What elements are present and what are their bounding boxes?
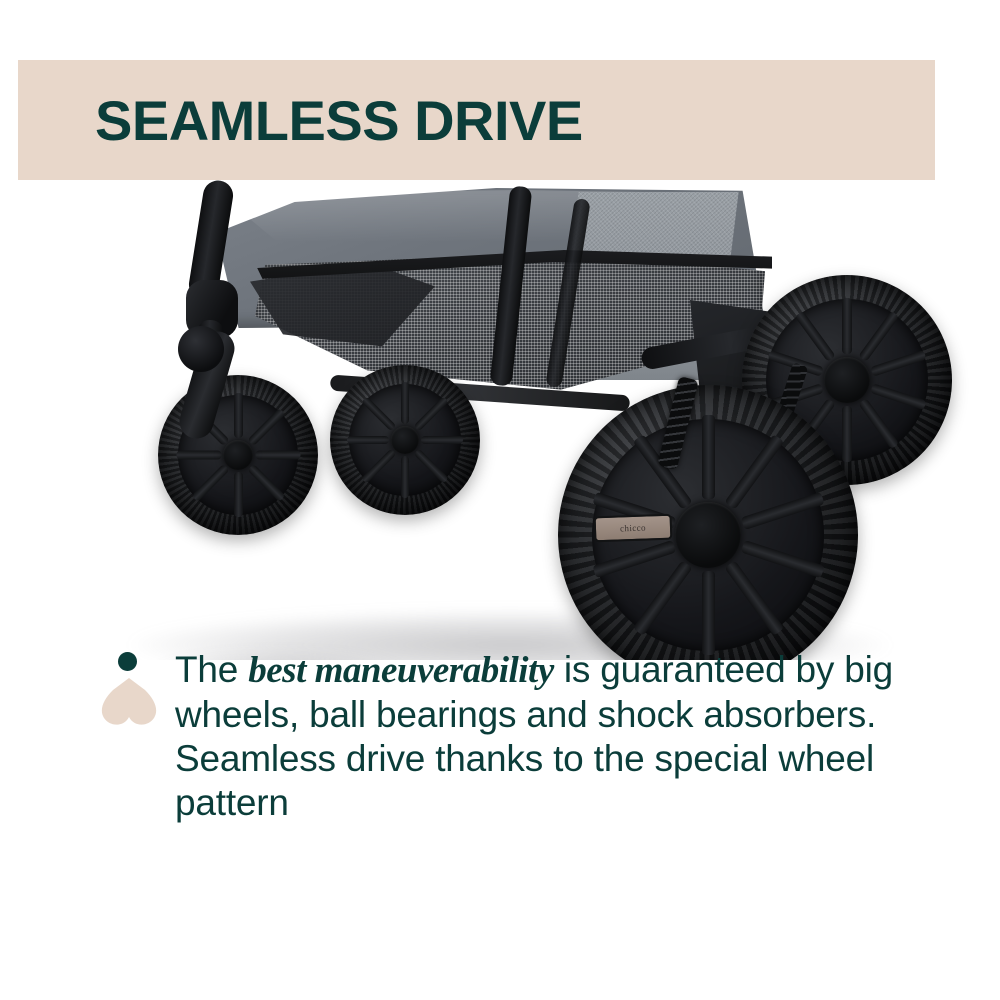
page-title: SEAMLESS DRIVE — [95, 93, 583, 149]
chicco-brand-badge: chicco — [594, 514, 673, 543]
wheel-spoke — [421, 436, 463, 444]
wheel-spoke — [347, 436, 389, 444]
swivel-wheel-front-hub — [223, 440, 253, 470]
stroller-illustration: chicco — [0, 180, 1000, 660]
feature-description-emphasis: best maneuverability — [248, 650, 554, 691]
wheel-spoke — [702, 415, 715, 499]
wheel-spoke — [842, 406, 852, 462]
wheel-spoke — [255, 451, 300, 460]
swivel-wheel-inner-hub — [391, 426, 419, 454]
title-band: SEAMLESS DRIVE — [18, 60, 935, 193]
wheel-spoke — [234, 393, 243, 438]
product-photo: chicco — [0, 180, 1000, 660]
feature-description: The best maneuverability is guaranteed b… — [175, 648, 935, 825]
wheel-spoke — [842, 298, 852, 354]
rear-wheel-hub — [824, 357, 870, 403]
wheel-spoke — [234, 472, 243, 517]
wheel-spoke — [702, 571, 715, 655]
heart-drop-bullet-icon — [98, 652, 166, 724]
swivel-pivot-cap — [178, 326, 224, 372]
swivel-wheel-front — [158, 375, 318, 535]
bullet-dot-icon — [118, 652, 137, 671]
wheel-spoke — [401, 456, 409, 498]
wheel-spoke — [176, 451, 221, 460]
swivel-wheel-inner — [330, 365, 480, 515]
feature-description-lead: The — [175, 649, 248, 690]
front-wheel-hub — [675, 502, 741, 568]
wheel-spoke — [401, 382, 409, 424]
chicco-brand-badge-text: chicco — [620, 523, 646, 534]
heart-icon — [101, 678, 157, 730]
